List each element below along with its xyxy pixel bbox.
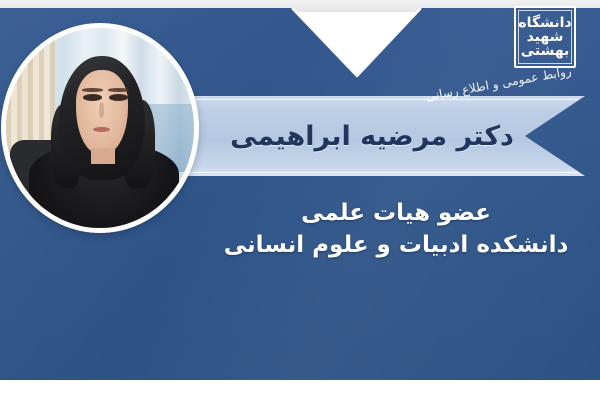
logo-text-lines: دانشگاه شهید بهشتی [519,11,571,63]
person-faculty: دانشکده ادبیات و علوم انسانی [200,230,592,262]
bottom-white-margin [0,380,600,400]
logo-line-3: بهشتی [521,44,570,58]
portrait-eyebrow-left [82,88,103,92]
portrait-neck [91,148,115,164]
avatar [4,26,196,230]
person-name: دکتر مرضیه ابراهیمی [185,96,585,176]
portrait-eye-left [83,94,102,101]
logo-line-1: دانشگاه [518,16,571,30]
person-role: عضو هیات علمی [200,198,592,230]
portrait-eyebrow-right [108,88,129,92]
portrait-photo [6,28,194,228]
logo-line-2: شهید [527,30,564,44]
portrait-eye-right [109,94,128,101]
profile-announcement-card: دکتر مرضیه ابراهیمی عضو هیات علمی دانشکد… [0,0,600,400]
university-logo-icon: دانشگاه شهید بهشتی [514,6,576,68]
person-title-block: عضو هیات علمی دانشکده ادبیات و علوم انسا… [200,198,600,261]
